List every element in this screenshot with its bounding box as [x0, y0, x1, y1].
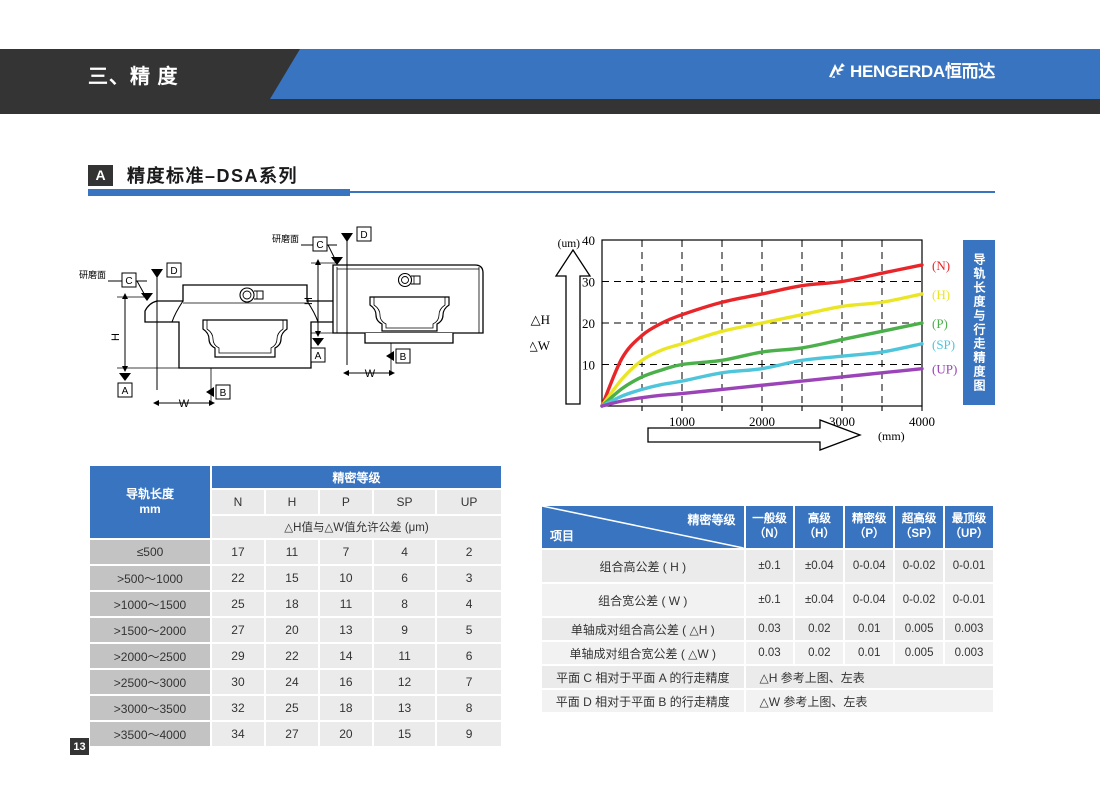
row-length-3: >1500〜2000 [89, 617, 211, 643]
cell-7-1: 27 [265, 721, 319, 747]
datum-c-left: C [125, 276, 132, 287]
note-item-1: 平面 D 相对于平面 B 的行走精度 [541, 689, 745, 713]
grade-tolerance-table-right: 精密等级 项目 一般级 （N） 高级 （H） 精密级 （P） 超高级 （SP） … [540, 504, 995, 714]
grade-col-up-line1: 最顶级 [945, 512, 993, 527]
datum-a-left: A [122, 386, 129, 397]
right-cell-3-0: 0.03 [745, 641, 795, 665]
section-badge: A [88, 165, 113, 186]
row-length-2: >1000〜1500 [89, 591, 211, 617]
datum-d-left: D [170, 266, 177, 277]
cell-2-2: 11 [319, 591, 373, 617]
right-cell-0-0: ±0.1 [745, 549, 795, 583]
cell-5-3: 12 [373, 669, 436, 695]
datum-a-right: A [315, 351, 322, 362]
chart-legend-n: (N) [932, 258, 950, 273]
grade-col-h-line2: （H） [795, 527, 843, 542]
section-rule-thin [350, 191, 995, 193]
cell-5-4: 7 [436, 669, 502, 695]
header-precision-grade-right: 精密等级 [688, 511, 736, 528]
grade-header-up: UP [436, 489, 502, 515]
datum-b-left: B [220, 388, 227, 399]
cell-4-4: 6 [436, 643, 502, 669]
table-row: 单轴成对组合宽公差 ( △W ) 0.03 0.02 0.01 0.005 0.… [541, 641, 994, 665]
cell-3-4: 5 [436, 617, 502, 643]
header-precision-grade: 精密等级 [211, 465, 502, 489]
grade-col-p-line2: （P） [845, 527, 893, 542]
cell-3-0: 27 [211, 617, 265, 643]
page-number: 13 [70, 738, 89, 755]
cell-7-3: 15 [373, 721, 436, 747]
grade-header-sp: SP [373, 489, 436, 515]
cell-2-3: 8 [373, 591, 436, 617]
grade-col-n-line2: （N） [746, 527, 794, 542]
page-title: 三、精 度 [88, 62, 179, 92]
header-item: 项目 [550, 527, 574, 544]
dim-h-right: H [303, 297, 315, 305]
section-rule-thick [88, 189, 350, 196]
cell-2-0: 25 [211, 591, 265, 617]
table-row: >2500〜3000 30 24 16 12 7 [89, 669, 502, 695]
brand-logo: HENGERDA恒而达 [826, 61, 995, 81]
cell-6-1: 25 [265, 695, 319, 721]
cell-5-0: 30 [211, 669, 265, 695]
item-label-3: 单轴成对组合宽公差 ( △W ) [541, 641, 745, 665]
row-length-6: >3000〜3500 [89, 695, 211, 721]
right-cell-2-4: 0.003 [944, 617, 994, 641]
y-tick-label: 30 [582, 275, 595, 290]
table-row: 组合宽公差 ( W ) ±0.1 ±0.04 0-0.04 0-0.02 0-0… [541, 583, 994, 617]
cell-2-1: 18 [265, 591, 319, 617]
cell-2-4: 4 [436, 591, 502, 617]
right-cell-2-0: 0.03 [745, 617, 795, 641]
right-cell-1-2: 0-0.04 [844, 583, 894, 617]
grade-header-n: N [211, 489, 265, 515]
row-length-5: >2500〜3000 [89, 669, 211, 695]
x-axis-unit-label: (mm) [878, 429, 905, 443]
grade-header-p: P [319, 489, 373, 515]
grade-col-sp: 超高级 （SP） [894, 505, 944, 549]
table-right-body: 精密等级 项目 一般级 （N） 高级 （H） 精密级 （P） 超高级 （SP） … [541, 505, 994, 713]
x-tick-label: 2000 [749, 414, 775, 429]
dim-w-left: W [179, 398, 190, 410]
item-label-0: 组合高公差 ( H ) [541, 549, 745, 583]
y-axis-unit-label: (um) [558, 238, 581, 250]
table-row: 单轴成对组合高公差 ( △H ) 0.03 0.02 0.01 0.005 0.… [541, 617, 994, 641]
table-row: >1500〜2000 27 20 13 9 5 [89, 617, 502, 643]
cell-6-3: 13 [373, 695, 436, 721]
y-tick-label: 40 [582, 233, 595, 248]
row-length-7: >3500〜4000 [89, 721, 211, 747]
header-diagonal-cell: 精密等级 项目 [541, 505, 745, 549]
right-cell-3-1: 0.02 [794, 641, 844, 665]
row-length-4: >2000〜2500 [89, 643, 211, 669]
cell-7-4: 9 [436, 721, 502, 747]
section-title: 精度标准–DSA系列 [127, 162, 298, 188]
page-header: 三、精 度 HENGERDA恒而达 [0, 49, 1100, 114]
brand-name: HENGERDA恒而达 [850, 62, 995, 81]
grade-col-p-line1: 精密级 [845, 512, 893, 527]
chart-legend-h: (H) [932, 287, 950, 302]
right-cell-1-1: ±0.04 [794, 583, 844, 617]
cell-0-2: 7 [319, 539, 373, 565]
grade-col-sp-line1: 超高级 [895, 512, 943, 527]
x-tick-label: 1000 [669, 414, 695, 429]
table-row: ≤500 17 11 7 4 2 [89, 539, 502, 565]
y-tick-label: 10 [582, 358, 595, 373]
right-cell-3-3: 0.005 [894, 641, 944, 665]
table-row: >2000〜2500 29 22 14 11 6 [89, 643, 502, 669]
chart-legend-sp: (SP) [932, 337, 955, 352]
table-row: >3000〜3500 32 25 18 13 8 [89, 695, 502, 721]
cell-4-2: 14 [319, 643, 373, 669]
tolerance-table-left: 导轨长度 mm 精密等级 N H P SP UP △H值与△W值允许公差 (μm… [88, 464, 503, 748]
right-cell-1-3: 0-0.02 [894, 583, 944, 617]
note-value-0: △H 参考上图、左表 [745, 665, 994, 689]
right-cell-1-4: 0-0.01 [944, 583, 994, 617]
chart-side-label: 导轨长度与行走精度图 [963, 240, 995, 405]
cell-0-1: 11 [265, 539, 319, 565]
table-row: >500〜1000 22 15 10 6 3 [89, 565, 502, 591]
note-value-1: △W 参考上图、左表 [745, 689, 994, 713]
right-cell-1-0: ±0.1 [745, 583, 795, 617]
dim-w-right: W [365, 368, 376, 380]
item-label-2: 单轴成对组合高公差 ( △H ) [541, 617, 745, 641]
table-row: 精密等级 项目 一般级 （N） 高级 （H） 精密级 （P） 超高级 （SP） … [541, 505, 994, 549]
grade-col-up-line2: （UP） [945, 527, 993, 542]
chart-legend-p: (P) [932, 316, 948, 331]
grade-col-n-line1: 一般级 [746, 512, 794, 527]
grind-label-left: 研磨面 [79, 270, 106, 280]
row-length-1: >500〜1000 [89, 565, 211, 591]
header-rail-length-line2: mm [90, 502, 210, 517]
y-axis-symbol-delta-w: △W [530, 338, 551, 353]
guide-block-drawings: C 研磨面 D H A W [75, 225, 515, 420]
right-cell-2-2: 0.01 [844, 617, 894, 641]
tolerance-note: △H值与△W值允许公差 (μm) [211, 515, 502, 539]
cell-0-4: 2 [436, 539, 502, 565]
right-cell-0-2: 0-0.04 [844, 549, 894, 583]
x-tick-label: 4000 [909, 414, 935, 429]
cell-7-2: 20 [319, 721, 373, 747]
cell-6-0: 32 [211, 695, 265, 721]
row-length-0: ≤500 [89, 539, 211, 565]
right-cell-3-4: 0.003 [944, 641, 994, 665]
right-cell-0-1: ±0.04 [794, 549, 844, 583]
header-rail-length: 导轨长度 mm [89, 465, 211, 539]
item-label-1: 组合宽公差 ( W ) [541, 583, 745, 617]
y-axis-symbol-delta-h: △H [531, 312, 550, 327]
cell-6-4: 8 [436, 695, 502, 721]
table-row: 平面 C 相对于平面 A 的行走精度 △H 参考上图、左表 [541, 665, 994, 689]
right-cell-2-1: 0.02 [794, 617, 844, 641]
cell-4-0: 29 [211, 643, 265, 669]
cell-1-0: 22 [211, 565, 265, 591]
right-cell-0-4: 0-0.01 [944, 549, 994, 583]
technical-drawings: C 研磨面 D H A W [75, 225, 515, 420]
table-row: >3500〜4000 34 27 20 15 9 [89, 721, 502, 747]
cell-3-3: 9 [373, 617, 436, 643]
accuracy-chart: 10203040(um)1000200030004000(N)(H)(P)(SP… [530, 228, 1000, 453]
table-row: 平面 D 相对于平面 B 的行走精度 △W 参考上图、左表 [541, 689, 994, 713]
table-left-body: 导轨长度 mm 精密等级 N H P SP UP △H值与△W值允许公差 (μm… [89, 465, 502, 747]
cell-7-0: 34 [211, 721, 265, 747]
section-title-row: A 精度标准–DSA系列 [88, 162, 298, 188]
cell-1-4: 3 [436, 565, 502, 591]
chart-legend-up: (UP) [932, 362, 957, 377]
grade-col-n: 一般级 （N） [745, 505, 795, 549]
grade-col-p: 精密级 （P） [844, 505, 894, 549]
grade-col-h: 高级 （H） [794, 505, 844, 549]
datum-c-right: C [316, 240, 323, 251]
grade-col-sp-line2: （SP） [895, 527, 943, 542]
cell-4-3: 11 [373, 643, 436, 669]
table-row: 组合高公差 ( H ) ±0.1 ±0.04 0-0.04 0-0.02 0-0… [541, 549, 994, 583]
cell-0-3: 4 [373, 539, 436, 565]
cell-6-2: 18 [319, 695, 373, 721]
cell-1-2: 10 [319, 565, 373, 591]
right-cell-2-3: 0.005 [894, 617, 944, 641]
cell-5-1: 24 [265, 669, 319, 695]
grind-label-right: 研磨面 [272, 234, 299, 244]
eagle-logo-icon [826, 61, 848, 81]
cell-0-0: 17 [211, 539, 265, 565]
right-cell-3-2: 0.01 [844, 641, 894, 665]
note-item-0: 平面 C 相对于平面 A 的行走精度 [541, 665, 745, 689]
cell-3-2: 13 [319, 617, 373, 643]
datum-b-right: B [400, 352, 407, 363]
chart-svg: 10203040(um)1000200030004000(N)(H)(P)(SP… [530, 228, 1000, 453]
header-rail-length-line1: 导轨长度 [90, 487, 210, 502]
grade-header-h: H [265, 489, 319, 515]
cell-3-1: 20 [265, 617, 319, 643]
datum-d-right: D [360, 230, 367, 241]
grade-col-h-line1: 高级 [795, 512, 843, 527]
cell-4-1: 22 [265, 643, 319, 669]
table-row: 导轨长度 mm 精密等级 [89, 465, 502, 489]
table-row: >1000〜1500 25 18 11 8 4 [89, 591, 502, 617]
y-tick-label: 20 [582, 316, 595, 331]
cell-1-1: 15 [265, 565, 319, 591]
cell-5-2: 16 [319, 669, 373, 695]
cell-1-3: 6 [373, 565, 436, 591]
dim-h-left: H [110, 333, 122, 341]
grade-col-up: 最顶级 （UP） [944, 505, 994, 549]
right-cell-0-3: 0-0.02 [894, 549, 944, 583]
